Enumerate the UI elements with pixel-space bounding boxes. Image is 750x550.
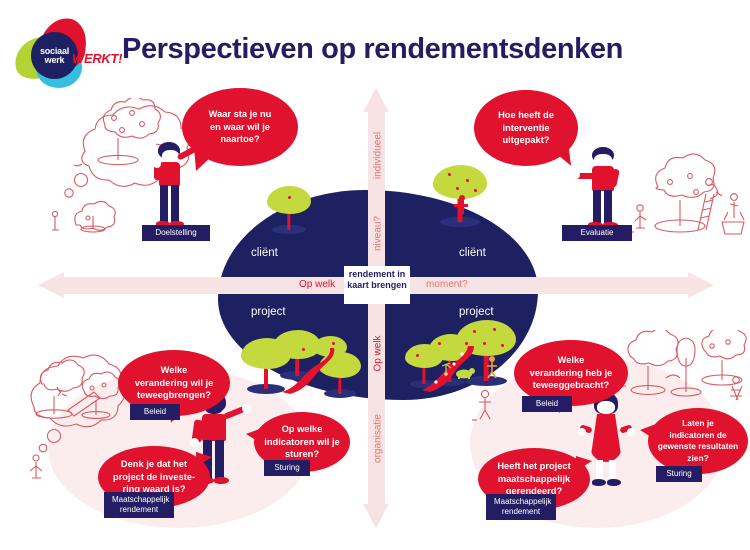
tag-evaluatie[interactable]: Evaluatie bbox=[562, 225, 632, 241]
tag-line: rendement bbox=[494, 507, 548, 517]
picker-figure-project-right bbox=[484, 356, 500, 378]
bubble-line: Op welke bbox=[264, 423, 339, 436]
logo-text-line2: werk bbox=[45, 56, 65, 65]
quadrant-label-client-left: cliënt bbox=[251, 247, 278, 259]
quadrant-label-project-right: project bbox=[459, 306, 494, 318]
bubble-line: naartoe? bbox=[209, 133, 272, 146]
axis-arrow-right-icon bbox=[688, 272, 714, 298]
bubble-line: Denk je dat het bbox=[113, 458, 195, 471]
bubble-line: Waar sta je nu bbox=[209, 108, 272, 121]
infographic-canvas: vooraf achteraf cliënt cliënt project pr… bbox=[0, 0, 750, 550]
axis-label-moment: moment? bbox=[426, 279, 468, 290]
center-label-line2: kaart brengen bbox=[346, 280, 408, 291]
tag-line: Sturing bbox=[664, 469, 694, 479]
tag-maatschappelijk-achteraf[interactable]: Maatschappelijk rendement bbox=[486, 494, 556, 520]
tag-beleid-vooraf[interactable]: Beleid bbox=[130, 404, 180, 420]
bubble-line: project de investe- bbox=[113, 471, 195, 484]
bubble-line: interventie bbox=[498, 122, 554, 135]
bubble-line: teweegbrengen? bbox=[135, 389, 214, 402]
tree-client-left bbox=[266, 186, 312, 234]
quadrant-label-client-right: cliënt bbox=[459, 247, 486, 259]
bubble-line: teweeggebracht? bbox=[530, 379, 613, 392]
bubble-beleid-vooraf-text: Welke verandering wil je teweegbrengen? bbox=[135, 364, 214, 402]
tag-line: Sturing bbox=[272, 463, 302, 473]
axis-label-organisatie: organisatie bbox=[373, 389, 384, 489]
bubble-line: Welke bbox=[530, 354, 613, 367]
bench-and-animal-right bbox=[442, 356, 486, 380]
bubble-sturing-vooraf-text: Op welke indicatoren wil je sturen? bbox=[264, 423, 339, 461]
bubble-line: gewenste resultaten bbox=[658, 441, 739, 453]
quadrant-label-project-left: project bbox=[251, 306, 286, 318]
bubble-line: en waar wil je bbox=[209, 121, 272, 134]
background-stick-figure bbox=[472, 388, 498, 422]
tag-beleid-achteraf[interactable]: Beleid bbox=[522, 396, 572, 412]
logo-sociaal-werk-werkt[interactable]: sociaal werk WERKT! bbox=[14, 18, 110, 86]
tag-sturing-vooraf[interactable]: Sturing bbox=[264, 460, 310, 476]
bubble-line: uitgepakt? bbox=[498, 134, 554, 147]
bubble-evaluatie[interactable]: Hoe heeft de interventie uitgepakt? bbox=[474, 90, 578, 166]
person-evaluatie bbox=[572, 147, 630, 235]
tag-line: Beleid bbox=[530, 399, 564, 409]
tag-line: rendement bbox=[112, 505, 166, 515]
center-label-line1: rendement in bbox=[346, 269, 408, 280]
bubble-line: Hoe heeft de bbox=[498, 109, 554, 122]
center-label: rendement in kaart brengen bbox=[346, 269, 408, 291]
axis-vertical: individueel niveau? Op welk organisatie bbox=[368, 88, 385, 528]
logo-circle: sociaal werk bbox=[31, 32, 78, 79]
bubble-maatschappelijk-vooraf-text: Denk je dat het project de investe- ring… bbox=[113, 458, 195, 496]
tag-line: Maatschappelijk bbox=[112, 495, 166, 505]
bubble-line: Heeft het project bbox=[497, 460, 570, 473]
path-project-left bbox=[280, 346, 336, 394]
tag-line: Evaluatie bbox=[570, 228, 624, 238]
page-title: Perspectieven op rendementsdenken bbox=[122, 33, 623, 66]
bubble-doelstelling[interactable]: Waar sta je nu en waar wil je naartoe? bbox=[182, 88, 298, 166]
tree-picker-figure-right bbox=[452, 195, 472, 221]
bubble-evaluatie-text: Hoe heeft de interventie uitgepakt? bbox=[498, 109, 554, 147]
person-dress bbox=[590, 414, 622, 462]
bubble-line: Laten je bbox=[658, 418, 739, 430]
tag-line: Doelstelling bbox=[150, 228, 202, 238]
background-line-art-top-right bbox=[628, 152, 750, 274]
bubble-line: indicatoren wil je bbox=[264, 436, 339, 449]
bubble-line: Welke bbox=[135, 364, 214, 377]
bubble-sturing-achteraf[interactable]: Laten je indicatoren de gewenste resulta… bbox=[648, 408, 748, 474]
axis-arrow-left-icon bbox=[38, 272, 64, 298]
tag-line: Maatschappelijk bbox=[494, 497, 548, 507]
tag-doelstelling[interactable]: Doelstelling bbox=[142, 225, 210, 241]
logo-tagline: WERKT! bbox=[72, 51, 122, 66]
bubble-doelstelling-text: Waar sta je nu en waar wil je naartoe? bbox=[209, 108, 272, 146]
bubble-beleid-achteraf-text: Welke verandering heb je teweeggebracht? bbox=[530, 354, 613, 392]
tag-sturing-achteraf[interactable]: Sturing bbox=[656, 466, 702, 482]
axis-label-op-welk-horizontal: Op welk bbox=[299, 279, 335, 290]
axis-arrow-down-icon bbox=[363, 504, 389, 528]
bubble-line: verandering heb je bbox=[530, 367, 613, 380]
bubble-line: verandering wil je bbox=[135, 377, 214, 390]
bubble-sturing-achteraf-text: Laten je indicatoren de gewenste resulta… bbox=[658, 418, 739, 464]
bubble-line: maatschappelijk bbox=[497, 473, 570, 486]
bubble-line: zien? bbox=[658, 453, 739, 465]
bubble-line: indicatoren de bbox=[658, 430, 739, 442]
bubble-line: sturen? bbox=[264, 448, 339, 461]
tag-line: Beleid bbox=[138, 407, 172, 417]
tag-maatschappelijk-vooraf[interactable]: Maatschappelijk rendement bbox=[104, 492, 174, 518]
bubble-maatschappelijk-achteraf-text: Heeft het project maatschappelijk gerend… bbox=[497, 460, 570, 498]
